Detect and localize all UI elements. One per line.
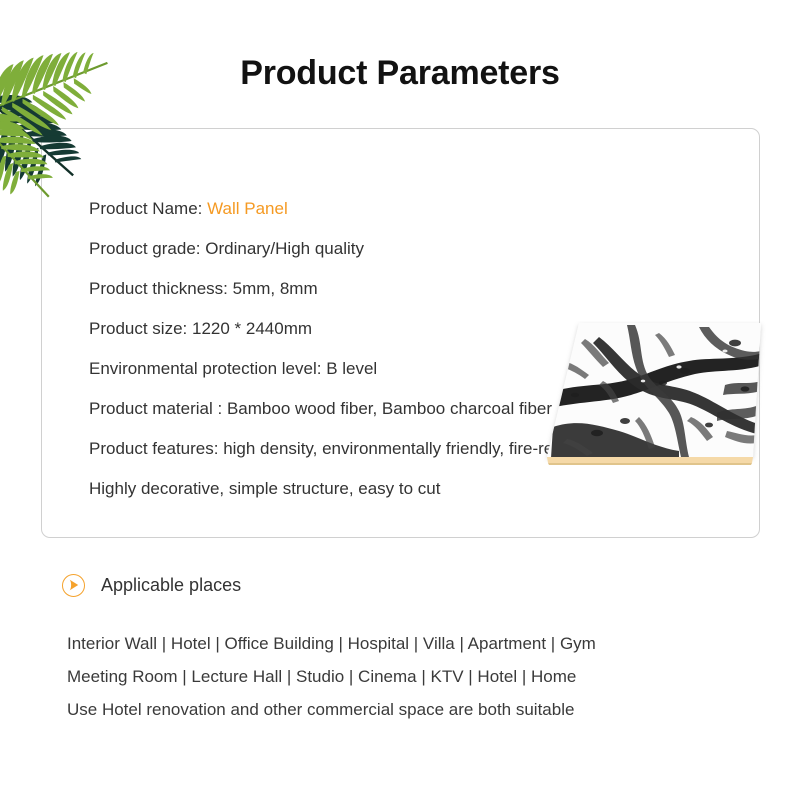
applicable-places-header: Applicable places bbox=[62, 570, 762, 600]
page-title: Product Parameters bbox=[0, 54, 800, 93]
spec-label: Environmental protection level: bbox=[89, 359, 326, 378]
spec-value: 5mm, 8mm bbox=[233, 279, 318, 298]
spec-label: Product thickness: bbox=[89, 279, 233, 298]
applicable-places-title: Applicable places bbox=[101, 575, 241, 596]
spec-value: Ordinary/High quality bbox=[205, 239, 364, 258]
spec-label: Product grade: bbox=[89, 239, 205, 258]
spec-label: Product Name: bbox=[89, 199, 207, 218]
product-parameters-card: Product Name: Wall Panel Product grade: … bbox=[41, 128, 760, 538]
marble-wall-panel-image bbox=[539, 321, 771, 469]
spec-value: Bamboo wood fiber, Bamboo charcoal fiber bbox=[227, 399, 552, 418]
applicable-places-list: Interior Wall | Hotel | Office Building … bbox=[67, 627, 762, 726]
spec-label: Product features: bbox=[89, 439, 223, 458]
arrow-circle-right-icon bbox=[62, 574, 85, 597]
spec-row-product-name: Product Name: Wall Panel bbox=[89, 189, 729, 229]
spec-label: Product material : bbox=[89, 399, 227, 418]
spec-value: Wall Panel bbox=[207, 199, 288, 218]
spec-value: 1220 * 2440mm bbox=[192, 319, 312, 338]
spec-label: Product size: bbox=[89, 319, 192, 338]
applicable-places-line: Meeting Room | Lecture Hall | Studio | C… bbox=[67, 660, 762, 693]
spec-label: Highly decorative, simple structure, eas… bbox=[89, 479, 440, 498]
applicable-places-section: Applicable places Interior Wall | Hotel … bbox=[62, 570, 762, 726]
applicable-places-line: Interior Wall | Hotel | Office Building … bbox=[67, 627, 762, 660]
applicable-places-line: Use Hotel renovation and other commercia… bbox=[67, 693, 762, 726]
spec-row-decorative-note: Highly decorative, simple structure, eas… bbox=[89, 469, 729, 509]
spec-value: B level bbox=[326, 359, 377, 378]
spec-row-product-thickness: Product thickness: 5mm, 8mm bbox=[89, 269, 729, 309]
spec-row-product-grade: Product grade: Ordinary/High quality bbox=[89, 229, 729, 269]
